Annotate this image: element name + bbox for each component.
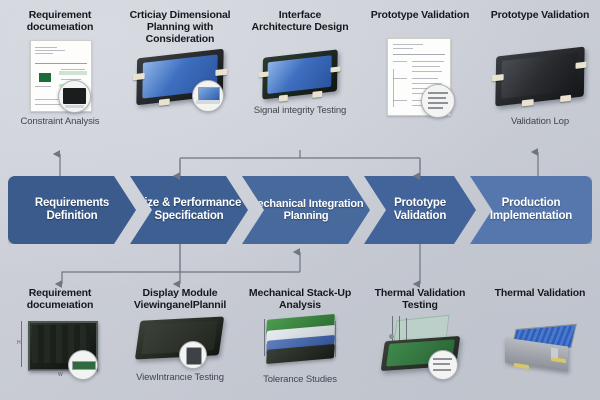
top-card-title: Prototype Validation (480, 10, 600, 36)
bottom-card-title: Display Module ViewinganelPlannil (120, 288, 240, 314)
process-step-label: Requirements Definition (8, 197, 136, 223)
bottom-card-title: Thermal Validation (480, 288, 600, 314)
bottom-card-title: Mechanical Stack-Up Analysis (240, 288, 360, 314)
laptop-inset-magnifier (192, 80, 224, 112)
top-card-title: Requirement documeıation (0, 10, 120, 36)
magnifier-inset (421, 84, 455, 118)
process-step-requirements-definition[interactable]: Requirements Definition (8, 176, 136, 244)
process-step-label: Mechanical Integration Planning (242, 198, 370, 223)
probe-rig-thumbnail (372, 314, 468, 376)
bottom-card-title: Thermal Validation Testing (360, 288, 480, 314)
process-step-label: Prototype Validation (364, 197, 476, 223)
dark-panel-module-thumbnail (489, 48, 591, 114)
thermal-chamber-thumbnail (494, 318, 586, 380)
bottom-card-thermal-validation[interactable]: Thermal Validation (480, 288, 600, 398)
bottom-card-caption: ViewIntrancıe Testing (120, 373, 240, 384)
top-card-critical-dimensional-planning[interactable]: Crticiay Dimensional Planning with Consi… (120, 10, 240, 160)
process-step-mechanical-integration-planning[interactable]: Mechanical Integration Planning (242, 176, 370, 244)
connector-step2-to-requirement-documentation (62, 244, 180, 284)
magnifier-inset (68, 350, 98, 380)
magnifier-inset (58, 80, 91, 113)
dimensioned-dark-panel-thumbnail: H W (14, 318, 106, 378)
process-step-prototype-validation[interactable]: Prototype Validation (364, 176, 476, 244)
specification-document-thumbnail (383, 38, 457, 116)
top-artifact-row: Requirement documeıation (0, 10, 600, 160)
bottom-card-caption: Tolerance Studies (240, 375, 360, 386)
top-card-caption: Validation Lop (480, 117, 600, 128)
top-card-requirement-documentation[interactable]: Requirement documeıation (0, 10, 120, 160)
top-card-prototype-validation-doc[interactable]: Prototype Validation (360, 10, 480, 160)
bottom-card-title: Requirement documeıation (0, 288, 120, 314)
process-chevron-bar: Requirements Definition Size & Performan… (8, 176, 592, 244)
bottom-card-mechanical-stackup-analysis[interactable]: Mechanical Stack-Up Analysis Tolerance S… (240, 288, 360, 398)
bottom-card-thermal-validation-testing[interactable]: Thermal Validation Testing (360, 288, 480, 398)
top-card-caption: Constraint Analysis (0, 117, 120, 128)
process-flow-diagram: Requirement documeıation (0, 0, 600, 400)
bottom-card-display-module-viewing-panel[interactable]: Display Module ViewinganelPlannil ViewIn… (120, 288, 240, 398)
top-card-caption: Signal integrity Testing (240, 106, 360, 117)
top-card-title: Crticiay Dimensional Planning with Consi… (120, 10, 240, 48)
process-step-size-performance-specification[interactable]: Size & Performance Specification (130, 176, 248, 244)
top-card-interface-architecture-design[interactable]: Interface Architecture Design Signal int… (240, 10, 360, 160)
dark-module-thumbnail (133, 317, 227, 369)
bottom-artifact-row: Requirement documeıation H W Display Mod… (0, 288, 600, 398)
top-card-title: Interface Architecture Design (240, 10, 360, 48)
blue-panel-board-thumbnail (130, 48, 230, 110)
exploded-layer-stack-thumbnail (257, 316, 343, 370)
top-card-prototype-validation-module[interactable]: Prototype Validation Validation Lop (480, 10, 600, 160)
document-with-magnifier-thumbnail (24, 40, 96, 112)
magnifier-inset (428, 350, 458, 380)
top-card-title: Prototype Validation (360, 10, 480, 36)
blue-panel-board-thumbnail (257, 48, 343, 104)
bottom-card-requirement-documentation[interactable]: Requirement documeıation H W (0, 288, 120, 398)
process-step-label: Size & Performance Specification (130, 197, 248, 223)
process-step-label: Production Implementation (470, 197, 592, 223)
process-step-production-implementation[interactable]: Production Implementation (470, 176, 592, 244)
magnifier-inset (179, 341, 207, 369)
